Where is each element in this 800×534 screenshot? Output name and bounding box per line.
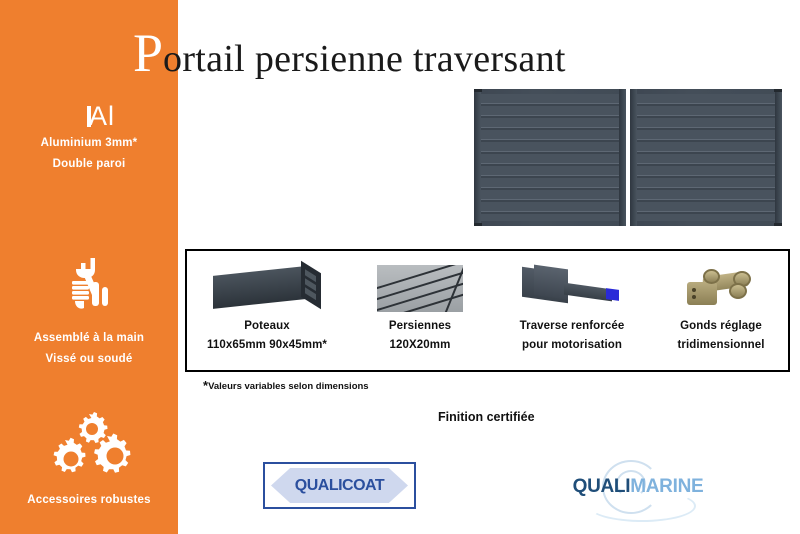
sidebar-feature-aluminium-line-1: Aluminium 3mm* bbox=[0, 133, 178, 154]
components-box: Poteaux 110x65mm 90x45mm* Persiennes 120… bbox=[185, 249, 790, 372]
component-traverse-label: Traverse renforcée bbox=[492, 317, 652, 336]
gate-product-photo bbox=[474, 89, 782, 226]
aluminium-square-icon: Al bbox=[0, 108, 178, 126]
hand-wrench-icon bbox=[0, 254, 178, 321]
component-persiennes: Persiennes 120X20mm bbox=[350, 251, 490, 370]
sidebar-feature-assembly-line-1: Assemblé à la main bbox=[0, 328, 178, 349]
traverse-renforcee-icon bbox=[492, 259, 652, 317]
qualicoat-logo: QUALICOAT bbox=[263, 462, 416, 509]
al-box: Al bbox=[87, 106, 91, 127]
gate-leaf-left bbox=[474, 89, 626, 226]
component-gonds: Gonds réglage tridimensionnel bbox=[654, 251, 788, 370]
component-gonds-sub: tridimensionnel bbox=[654, 336, 788, 355]
gate-post-right-inner bbox=[630, 89, 637, 226]
sidebar-feature-assembly: Assemblé à la main Vissé ou soudé bbox=[0, 254, 178, 370]
gate-post-left-outer bbox=[474, 89, 481, 226]
gate-cap-right-bottom bbox=[774, 223, 782, 226]
persienne-slats-icon bbox=[350, 259, 490, 317]
qualimarine-text-quali: QUALI bbox=[573, 476, 631, 497]
page-title-capital: P bbox=[133, 23, 163, 83]
gate-leaf-right bbox=[630, 89, 782, 226]
sidebar-feature-assembly-line-2: Vissé ou soudé bbox=[0, 349, 178, 370]
qualicoat-logo-text: QUALICOAT bbox=[265, 477, 414, 495]
component-traverse-sub: pour motorisation bbox=[492, 336, 652, 355]
sidebar-feature-accessories-line-1: Accessoires robustes bbox=[0, 490, 178, 511]
gate-cap-left-bottom bbox=[474, 223, 482, 226]
gate-slats-right bbox=[637, 94, 775, 221]
qualimarine-logo: QUALIMARINE bbox=[560, 462, 716, 510]
gate-post-left-inner bbox=[619, 89, 626, 226]
component-poteaux-label: Poteaux bbox=[187, 317, 347, 336]
component-poteaux: Poteaux 110x65mm 90x45mm* bbox=[187, 251, 347, 370]
component-traverse: Traverse renforcée pour motorisation bbox=[492, 251, 652, 370]
gate-post-right-outer bbox=[775, 89, 782, 226]
page-title-rest: ortail persienne traversant bbox=[163, 38, 566, 80]
gate-cap-left-top bbox=[474, 89, 482, 92]
gond-hinge-icon bbox=[654, 259, 788, 317]
component-poteaux-sub: 110x65mm 90x45mm* bbox=[187, 336, 347, 355]
qualimarine-logo-text: QUALIMARINE bbox=[560, 476, 716, 498]
sidebar-feature-accessories: Accessoires robustes bbox=[0, 412, 178, 511]
qualimarine-text-marine: MARINE bbox=[630, 476, 703, 497]
certification-title: Finition certifiée bbox=[438, 410, 535, 424]
gate-cap-right-top bbox=[774, 89, 782, 92]
component-gonds-label: Gonds réglage bbox=[654, 317, 788, 336]
product-datasheet-page: Al Aluminium 3mm* Double paroi bbox=[0, 0, 800, 534]
footnote-text: Valeurs variables selon dimensions bbox=[208, 381, 369, 392]
footnote: *Valeurs variables selon dimensions bbox=[203, 381, 369, 392]
component-persiennes-label: Persiennes bbox=[350, 317, 490, 336]
sidebar-feature-aluminium-line-2: Double paroi bbox=[0, 154, 178, 175]
page-title: Portail persienne traversant bbox=[133, 26, 566, 82]
gate-slats-left bbox=[481, 94, 619, 221]
gears-icon bbox=[0, 412, 178, 483]
poteau-profile-icon bbox=[187, 259, 347, 317]
sidebar-feature-aluminium: Al Aluminium 3mm* Double paroi bbox=[0, 108, 178, 175]
component-persiennes-sub: 120X20mm bbox=[350, 336, 490, 355]
